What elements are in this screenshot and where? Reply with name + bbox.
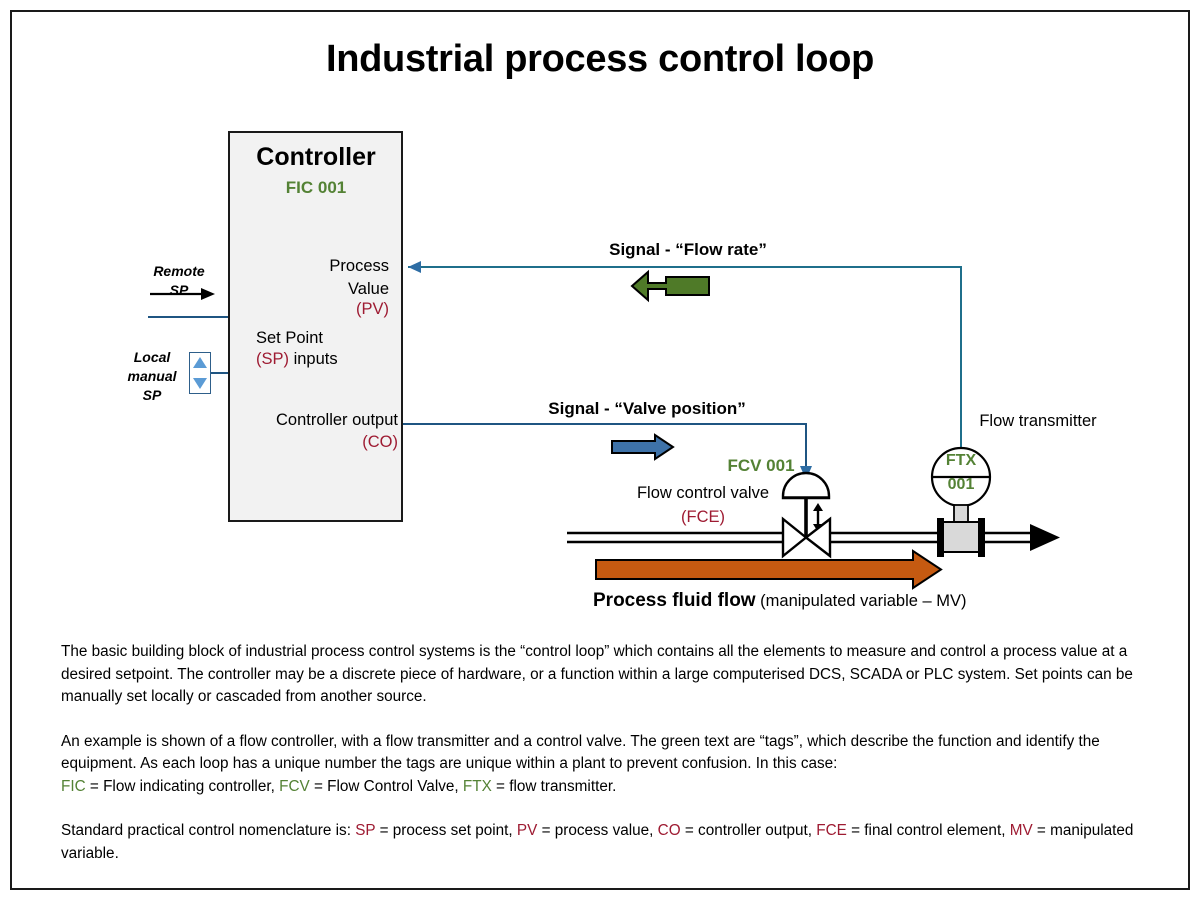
flow-caption-normal: (manipulated variable – MV): [756, 592, 967, 610]
valve-position-direction-arrow-icon: [612, 435, 673, 459]
process-value-code: (PV): [356, 300, 389, 319]
tag-ftx-def: = flow transmitter.: [492, 778, 617, 795]
controller-output-label: Controller output: [276, 411, 398, 430]
nom-sp-def: = process set point,: [375, 822, 517, 839]
nom-co: CO: [658, 822, 681, 839]
set-point-inputs-label: (SP) inputs: [256, 350, 338, 369]
page-title: Industrial process control loop: [326, 38, 874, 81]
remote-sp-label: Remote SP: [153, 262, 204, 300]
transmitter-tag-line1: FTX: [946, 452, 976, 470]
signal-valve-position-label: Signal - “Valve position”: [548, 399, 745, 419]
nom-pv-def: = process value,: [537, 822, 657, 839]
set-point-label: Set Point: [256, 329, 323, 348]
tag-fcv: FCV: [279, 778, 310, 795]
nom-sp: SP: [355, 822, 375, 839]
valve-tag: FCV 001: [727, 456, 794, 476]
paragraph-2: An example is shown of a flow controller…: [61, 731, 1156, 799]
process-fluid-flow-arrow-icon: [596, 551, 941, 588]
local-manual-sp-label: Local manual SP: [127, 348, 176, 405]
description-text: The basic building block of industrial p…: [61, 641, 1156, 887]
flow-caption-bold: Process fluid flow: [593, 590, 756, 611]
local-sp-stepper[interactable]: [189, 352, 211, 394]
paragraph-3: Standard practical control nomenclature …: [61, 820, 1156, 865]
signal-flow-rate-label: Signal - “Flow rate”: [609, 240, 767, 260]
nom-mv: MV: [1010, 822, 1033, 839]
sp-code: (SP): [256, 350, 289, 368]
transmitter-tag-line2: 001: [948, 476, 975, 494]
up-arrow-icon[interactable]: [193, 357, 207, 368]
controller-title: Controller: [256, 143, 375, 172]
tag-fic: FIC: [61, 778, 86, 795]
diagram-page: Controller FIC 001 Process Value (PV) Co…: [0, 0, 1200, 900]
pipe-outlet-arrow-icon: [1030, 524, 1060, 551]
tag-ftx: FTX: [463, 778, 492, 795]
controller-output-code: (CO): [362, 433, 398, 452]
nom-fce-def: = final control element,: [847, 822, 1010, 839]
flow-control-valve-icon: [783, 473, 830, 556]
sp-inputs-rest: inputs: [289, 350, 338, 368]
paragraph-1: The basic building block of industrial p…: [61, 641, 1156, 709]
p3-intro: Standard practical control nomenclature …: [61, 822, 355, 839]
nom-fce: FCE: [816, 822, 847, 839]
process-value-label: Process Value: [329, 255, 389, 301]
transmitter-label: Flow transmitter: [979, 412, 1096, 431]
tag-fic-def: = Flow indicating controller,: [86, 778, 279, 795]
down-arrow-icon[interactable]: [193, 378, 207, 389]
controller-tag: FIC 001: [286, 178, 346, 198]
valve-code: (FCE): [681, 508, 725, 527]
p2-intro: An example is shown of a flow controller…: [61, 733, 1100, 773]
nom-co-def: = controller output,: [681, 822, 817, 839]
process-fluid-flow-caption: Process fluid flow (manipulated variable…: [593, 590, 967, 612]
flow-rate-direction-arrow-icon: [632, 272, 709, 300]
nom-pv: PV: [517, 822, 537, 839]
valve-label: Flow control valve: [637, 484, 769, 503]
tag-fcv-def: = Flow Control Valve,: [310, 778, 463, 795]
